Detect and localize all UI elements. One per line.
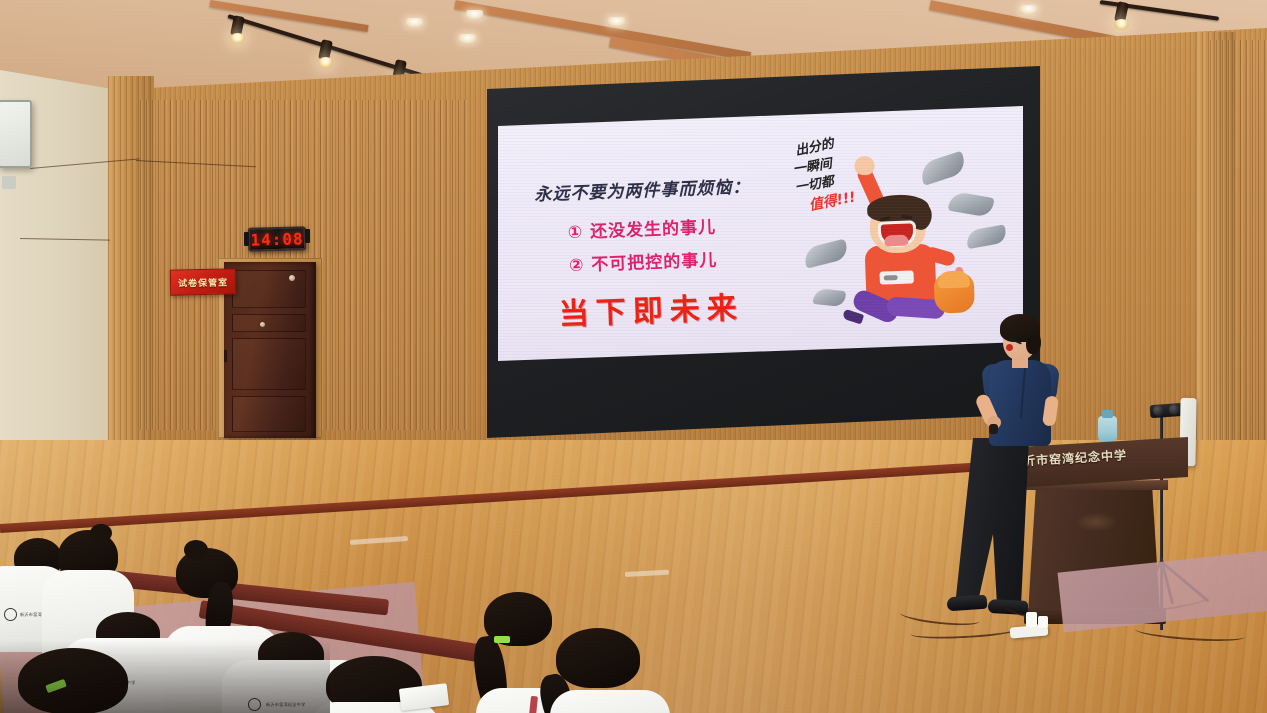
speaker-shoe [947, 595, 988, 612]
clock-bracket [305, 229, 310, 243]
open-book [399, 683, 449, 711]
ceiling-downlight [459, 34, 476, 43]
ceiling-downlight [1020, 5, 1037, 14]
power-plug [1026, 612, 1037, 627]
digital-clock-time: 14:08 [250, 229, 304, 249]
door-hinge [224, 350, 227, 362]
slide-bullet-2: ② 不可把控的事儿 [569, 246, 718, 276]
slide-heading: 永远不要为两件事而烦恼： [534, 172, 751, 205]
wall-outlet [2, 176, 16, 189]
student-hair-bun [90, 524, 112, 542]
door-panel [232, 270, 306, 308]
slide-headline: 当下即未来 [558, 283, 744, 334]
exam-room-sign: 试卷保管室 [170, 268, 237, 295]
speaker-held-remote [989, 424, 998, 434]
ceiling-downlight [466, 10, 483, 19]
hair-clip [494, 636, 510, 643]
ceiling-downlight [608, 17, 625, 26]
door[interactable] [224, 262, 316, 438]
cartoon-backpack-flap [938, 270, 971, 288]
bottle-cap [1102, 410, 1113, 418]
spotlight-bulb [230, 33, 245, 44]
cartoon-shirt-logo [879, 270, 913, 284]
door-panel [232, 396, 306, 432]
clock-bracket [244, 232, 249, 246]
podium-wood-knot [1074, 512, 1118, 532]
student-hair [556, 628, 640, 688]
audience-shadow [0, 640, 330, 713]
door-latch[interactable] [289, 275, 295, 281]
track-spotlight [232, 16, 243, 42]
wall-control-box [0, 100, 32, 168]
speaker-hair [1000, 314, 1040, 342]
power-plug [1038, 616, 1048, 628]
auditorium-photo: 试卷保管室 14:08 永远不要为两件事而烦恼： ① 还没发生的事儿 ② 不可把… [0, 0, 1267, 713]
track-spotlight [1116, 2, 1127, 28]
uniform-logo-icon [4, 608, 17, 621]
track-spotlight [320, 40, 331, 66]
door-knob[interactable] [260, 322, 265, 327]
cartoon-hand [854, 156, 875, 176]
door-panel [232, 338, 306, 390]
door-panel [232, 314, 306, 332]
spotlight-bulb [1114, 19, 1129, 30]
digital-clock: 14:08 [248, 226, 307, 252]
cartoon-tongue [884, 235, 908, 247]
projection-screen: 永远不要为两件事而烦恼： ① 还没发生的事儿 ② 不可把控的事儿 当下即未来 出… [498, 106, 1023, 361]
headset-mic-icon [1006, 344, 1013, 351]
spotlight-bulb [318, 57, 333, 68]
exam-room-sign-label: 试卷保管室 [178, 275, 228, 289]
student-uniform [550, 690, 670, 713]
cartoon-student [825, 156, 981, 331]
wall-slat-texture [1210, 40, 1267, 500]
camera-lens [1169, 404, 1180, 415]
speaker-top [989, 360, 1051, 446]
student-hair-bun [184, 540, 208, 560]
slide-content: 永远不要为两件事而烦恼： ① 还没发生的事儿 ② 不可把控的事儿 当下即未来 出… [498, 106, 1023, 361]
water-bottle[interactable] [1098, 416, 1117, 442]
slide-bullet-1: ① 还没发生的事儿 [567, 213, 716, 243]
camera-lens [1153, 405, 1164, 416]
ceiling-downlight [406, 18, 423, 27]
